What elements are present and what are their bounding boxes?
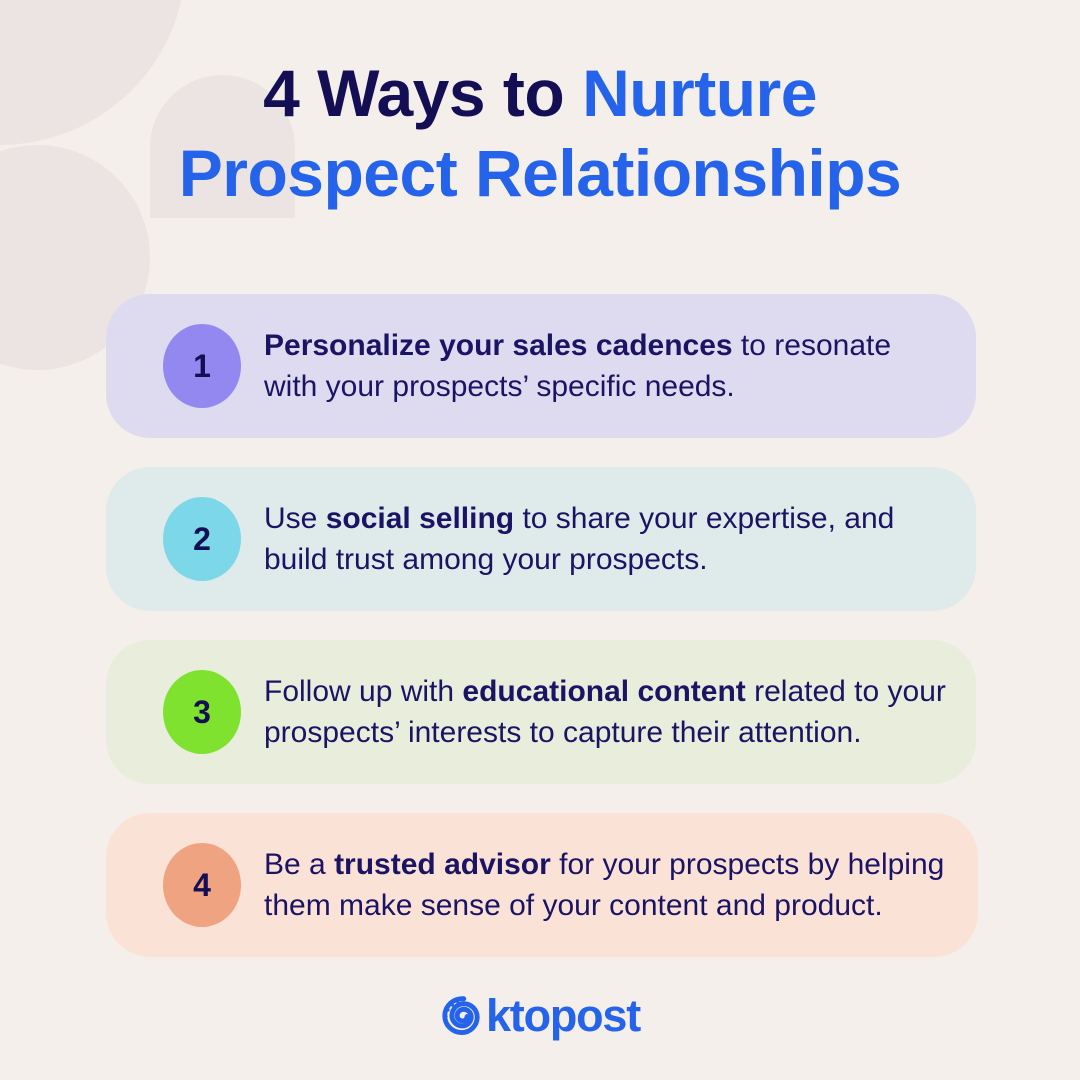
list-item: 1 Personalize your sales cadences to res… [106, 294, 976, 438]
list-item-text-bold: Personalize your sales cadences [264, 329, 733, 362]
list-item: 4 Be a trusted advisor for your prospect… [106, 813, 978, 957]
step-number-badge: 2 [163, 497, 241, 581]
step-number-label: 3 [193, 694, 211, 731]
oktopost-spiral-icon [440, 992, 486, 1038]
tips-list: 1 Personalize your sales cadences to res… [106, 294, 976, 957]
infographic-canvas: 4 Ways to Nurture Prospect Relationships… [0, 0, 1080, 1080]
step-number-badge: 1 [163, 324, 241, 408]
brand-logo: ktopost [0, 992, 1080, 1038]
step-number-label: 2 [193, 521, 211, 558]
list-item-text: Personalize your sales cadences to reson… [264, 325, 946, 408]
list-item-text: Follow up with educational content relat… [264, 671, 946, 754]
title-part-accent: Nurture [582, 56, 817, 130]
list-item-text-lead: Use [264, 502, 326, 535]
list-item-text-lead: Be a [264, 848, 334, 881]
logo-wordmark: ktopost [486, 993, 640, 1038]
list-item-text-bold: educational content [462, 675, 745, 708]
list-item-text: Use social selling to share your experti… [264, 498, 946, 581]
list-item: 2 Use social selling to share your exper… [106, 467, 976, 611]
list-item-text-lead: Follow up with [264, 675, 462, 708]
title-part-dark: 4 Ways to [263, 56, 582, 130]
list-item-text-bold: trusted advisor [334, 848, 551, 881]
title-line-2: Prospect Relationships [0, 140, 1080, 206]
step-number-label: 4 [193, 867, 211, 904]
list-item: 3 Follow up with educational content rel… [106, 640, 976, 784]
title-line-1: 4 Ways to Nurture [0, 60, 1080, 126]
step-number-badge: 3 [163, 670, 241, 754]
step-number-badge: 4 [163, 843, 241, 927]
list-item-text-bold: social selling [326, 502, 514, 535]
page-title: 4 Ways to Nurture Prospect Relationships [0, 60, 1080, 206]
step-number-label: 1 [193, 348, 211, 385]
list-item-text: Be a trusted advisor for your prospects … [264, 844, 948, 927]
